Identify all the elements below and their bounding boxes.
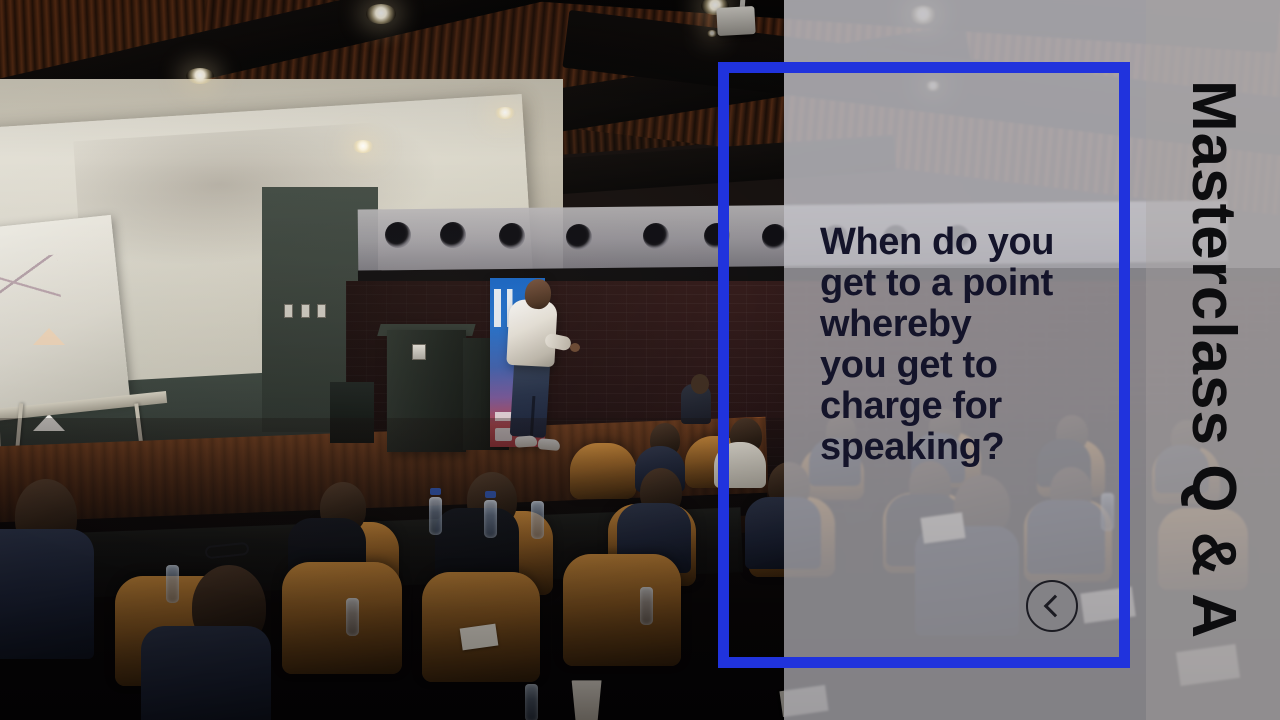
vertical-title: Masterclass Q & A	[1146, 0, 1280, 720]
chevron-left-icon	[1043, 595, 1066, 618]
previous-button[interactable]	[1026, 580, 1078, 632]
vertical-title-text: Masterclass Q & A	[1182, 80, 1244, 639]
question-text: When do you get to a point whereby you g…	[820, 222, 1120, 468]
slide-canvas: When do you get to a point whereby you g…	[0, 0, 1280, 720]
